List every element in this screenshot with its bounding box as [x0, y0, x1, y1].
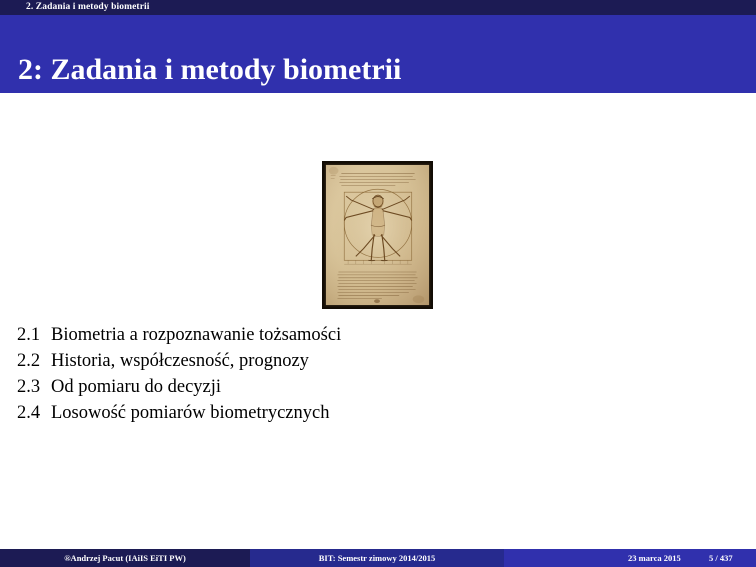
- footer-course: BIT: Semestr zimowy 2014/2015: [250, 549, 504, 567]
- section-outline-list: 2.1 Biometria a rozpoznawanie tożsamości…: [0, 322, 756, 426]
- outline-item-number: 2.4: [0, 400, 51, 426]
- slide-header-bar: 2. Zadania i metody biometrii: [0, 0, 756, 15]
- outline-item-label: Biometria a rozpoznawanie tożsamości: [51, 322, 341, 348]
- outline-item-number: 2.1: [0, 322, 51, 348]
- vitruvian-man-image: [322, 161, 433, 309]
- slide-footer-bar: ®Andrzej Pacut (IAiIS EiTI PW) BIT: Seme…: [0, 549, 756, 567]
- footer-page-number: 5 / 437: [709, 549, 733, 567]
- running-header-title: 2. Zadania i metody biometrii: [26, 1, 150, 14]
- page-title: 2: Zadania i metody biometrii: [18, 53, 401, 87]
- outline-item-number: 2.2: [0, 348, 51, 374]
- footer-date: 23 marca 2015: [628, 549, 681, 567]
- slide-title-band: 2: Zadania i metody biometrii: [0, 15, 756, 93]
- outline-item[interactable]: 2.3 Od pomiaru do decyzji: [0, 374, 756, 400]
- outline-item[interactable]: 2.4 Losowość pomiarów biometrycznych: [0, 400, 756, 426]
- footer-right-section: 23 marca 2015 5 / 437: [504, 549, 756, 567]
- outline-item-number: 2.3: [0, 374, 51, 400]
- outline-item-label: Historia, współczesność, prognozy: [51, 348, 309, 374]
- outline-item-label: Od pomiaru do decyzji: [51, 374, 221, 400]
- vitruvian-man-drawing: [324, 163, 431, 307]
- outline-item-label: Losowość pomiarów biometrycznych: [51, 400, 329, 426]
- footer-author: ®Andrzej Pacut (IAiIS EiTI PW): [0, 549, 250, 567]
- outline-item[interactable]: 2.2 Historia, współczesność, prognozy: [0, 348, 756, 374]
- outline-item[interactable]: 2.1 Biometria a rozpoznawanie tożsamości: [0, 322, 756, 348]
